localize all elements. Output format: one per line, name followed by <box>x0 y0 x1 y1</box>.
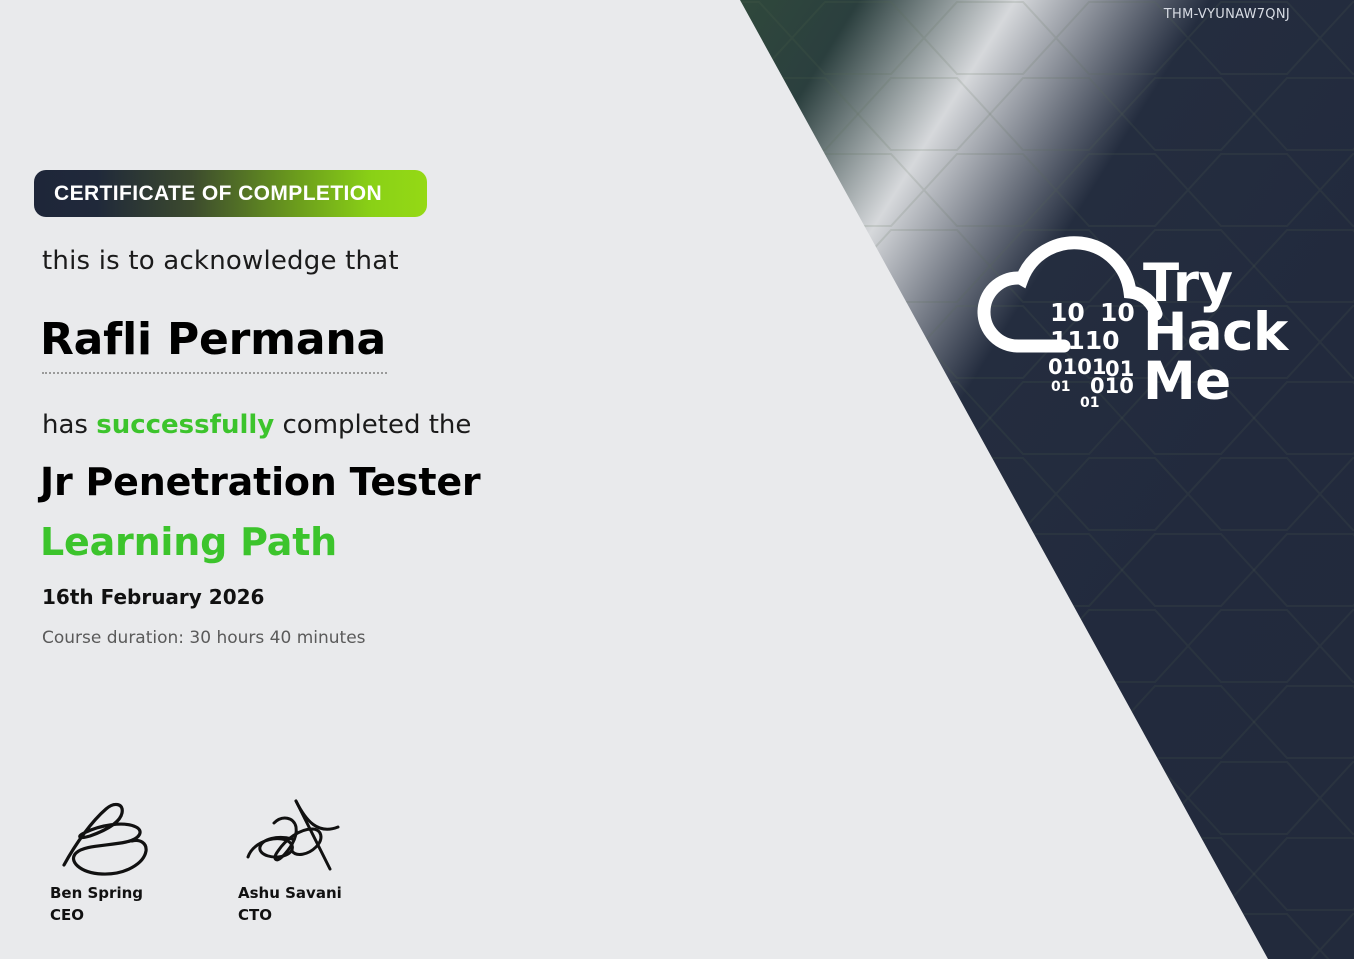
completion-badge: CERTIFICATE OF COMPLETION <box>34 170 427 217</box>
binary-digit: 10 <box>1100 298 1135 327</box>
course-duration: Course duration: 30 hours 40 minutes <box>42 628 366 648</box>
badge-label: CERTIFICATE OF COMPLETION <box>34 182 382 206</box>
signatory-name: Ashu Savani <box>238 883 358 905</box>
tryhackme-logo: 10 10 1110 0101 01 01 010 01 Try Hack Me <box>968 216 1298 412</box>
logo-line-3: Me <box>1143 358 1288 407</box>
signature-block-cto: Ashu Savani CTO <box>238 795 358 927</box>
completion-suffix: completed the <box>274 410 471 440</box>
binary-digit: 1110 <box>1050 326 1120 355</box>
signatory-role: CTO <box>238 905 358 927</box>
recipient-underline <box>42 372 387 374</box>
binary-digit: 10 <box>1050 298 1085 327</box>
certificate-id: THM-VYUNAW7QNJ <box>1164 7 1290 22</box>
recipient-name: Rafli Permana <box>40 314 386 365</box>
completion-date: 16th February 2026 <box>42 585 264 609</box>
signature-icon <box>238 795 358 883</box>
certificate: THM-VYUNAW7QNJ 10 10 1110 0101 01 01 010… <box>0 0 1354 959</box>
signatory-name: Ben Spring <box>50 883 170 905</box>
completion-prefix: has <box>42 410 96 440</box>
signature-block-ceo: Ben Spring CEO <box>50 795 170 927</box>
course-kind: Learning Path <box>40 520 337 564</box>
logo-wordmark: Try Hack Me <box>1143 260 1288 406</box>
signatory-role: CEO <box>50 905 170 927</box>
acknowledgement-text: this is to acknowledge that <box>42 246 399 276</box>
completion-highlight: successfully <box>96 410 274 440</box>
binary-digit: 01 <box>1051 379 1070 395</box>
course-title: Jr Penetration Tester <box>40 460 480 504</box>
signature-icon <box>50 795 170 883</box>
binary-digit: 01 <box>1080 395 1099 411</box>
completion-statement: has successfully completed the <box>42 410 471 440</box>
